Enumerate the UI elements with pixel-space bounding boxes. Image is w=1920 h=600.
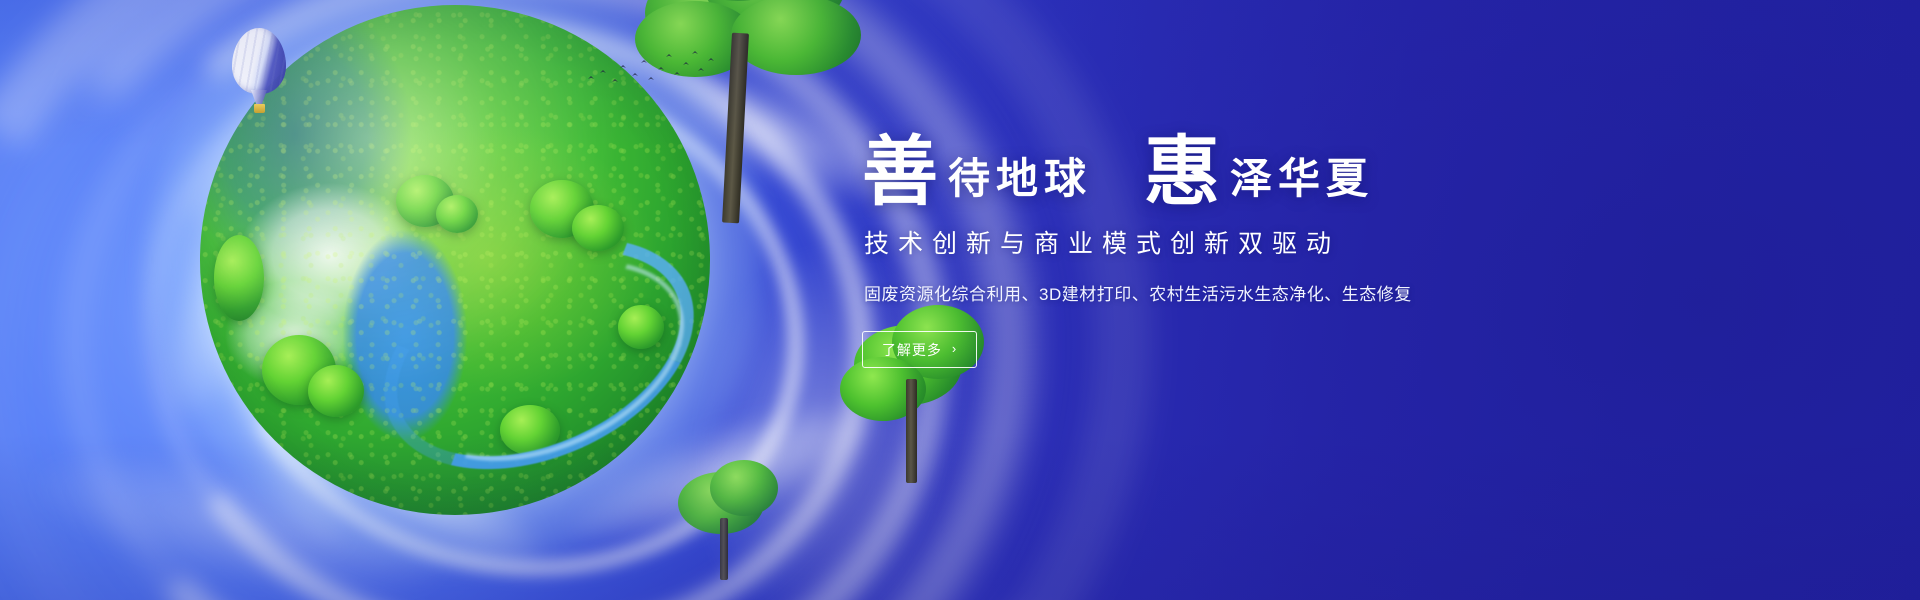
hero-subtitle: 技术创新与商业模式创新双驱动 [864, 224, 1842, 260]
learn-more-label: 了解更多 [882, 340, 942, 360]
headline-primary-char-2: 惠 [1144, 134, 1220, 210]
hero-description: 固废资源化综合利用、3D建材打印、农村生活污水生态净化、生态修复 [864, 280, 1842, 305]
headline-primary-char-1: 善 [862, 134, 938, 210]
headline-secondary-1: 待地球 [948, 158, 1092, 200]
hero-banner: 善 待地球 惠 泽华夏 技术创新与商业模式创新双驱动 固废资源化综合利用、3D建… [0, 0, 1920, 600]
headline-secondary-2: 泽华夏 [1230, 158, 1374, 200]
learn-more-button[interactable]: 了解更多 › [862, 331, 977, 368]
hero-content: 善 待地球 惠 泽华夏 技术创新与商业模式创新双驱动 固废资源化综合利用、3D建… [862, 130, 1842, 368]
chevron-right-icon: › [952, 342, 957, 355]
page-title: 善 待地球 惠 泽华夏 [862, 130, 1842, 206]
